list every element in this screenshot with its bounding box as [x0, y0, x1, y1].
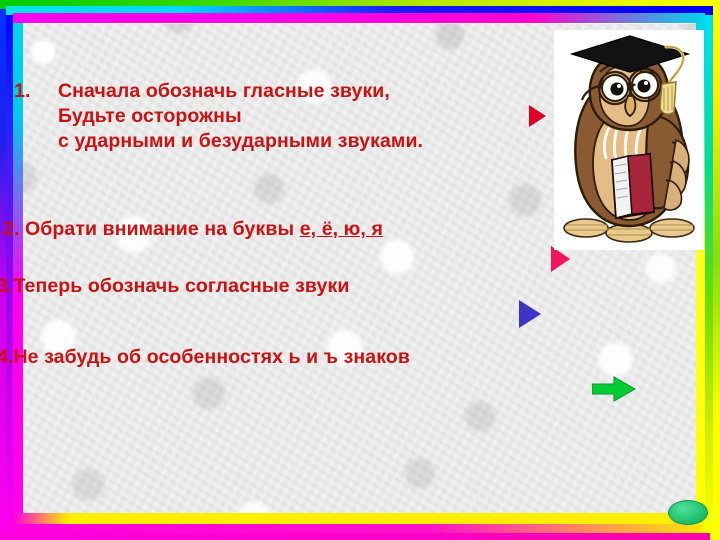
list-item-2-text: Обрати внимание на буквы [25, 218, 300, 240]
list-item-1-line-2: Будьте осторожны [58, 104, 423, 129]
list-item-1-line-1: Сначала обозначь гласные звуки, [58, 79, 423, 104]
list-item-4-number: 4. [0, 346, 13, 368]
list-item-3: 3.Теперь обозначь согласные звуки [0, 274, 349, 299]
slide-root: 1.Сначала обозначь гласные звуки,Будьте … [0, 0, 720, 540]
owl-scholar-illustration [554, 30, 704, 250]
list-item-2: 2. Обрати внимание на буквы е, ё, ю, я [3, 217, 383, 242]
list-item-1-number: 1. [14, 79, 58, 104]
list-item-4: 4.Не забудь об особенностях ь и ъ знаков [0, 345, 410, 370]
green-ellipse-button[interactable] [668, 500, 708, 525]
list-item-3-text: Теперь обозначь согласные звуки [13, 275, 349, 297]
list-item-1: 1.Сначала обозначь гласные звуки,Будьте … [14, 79, 423, 154]
list-item-2-underlined-letters: е, ё, ю, я [300, 218, 383, 240]
green-block-arrow-icon [592, 375, 636, 403]
list-item-1-line-3: с ударными и безударными звуками. [58, 129, 423, 154]
red-triangle-arrow-icon [529, 105, 546, 127]
blue-triangle-arrow-icon [519, 300, 541, 328]
list-item-4-text: Не забудь об особенностях ь и ъ знаков [13, 346, 409, 368]
list-item-3-number: 3. [0, 275, 13, 297]
list-item-2-number: 2. [3, 218, 19, 240]
